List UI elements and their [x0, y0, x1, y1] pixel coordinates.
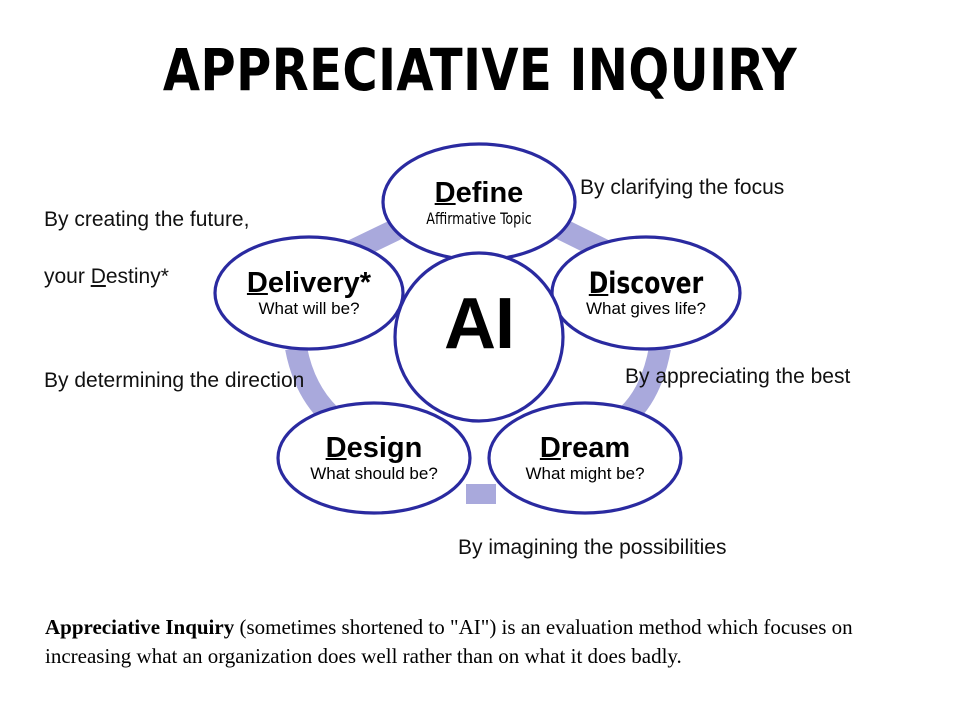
caption-destiny: By creating the future, your Destiny* — [44, 178, 249, 320]
caption-destiny-line2: your Destiny* — [44, 263, 249, 291]
node-ellipse-define — [383, 144, 575, 260]
node-ellipse-discover — [552, 237, 740, 349]
caption-destiny-line1: By creating the future, — [44, 206, 249, 234]
slide-canvas: APPRECIATIVE INQUIRY — [0, 0, 960, 720]
caption-destiny-post: estiny* — [106, 265, 169, 288]
caption-appreciate: By appreciating the best — [625, 363, 850, 391]
center-circle-ai — [395, 253, 563, 421]
caption-destiny-pre: your — [44, 265, 91, 288]
caption-clarify: By clarifying the focus — [580, 174, 784, 202]
footer-description: Appreciative Inquiry (sometimes shortene… — [45, 613, 920, 671]
node-ellipse-design — [278, 403, 470, 513]
caption-destiny-initial: D — [91, 265, 106, 288]
caption-imagine: By imagining the possibilities — [458, 534, 726, 562]
node-ellipse-dream — [489, 403, 681, 513]
caption-determine: By determining the direction — [44, 367, 304, 395]
footer-bold-lead: Appreciative Inquiry — [45, 615, 234, 639]
